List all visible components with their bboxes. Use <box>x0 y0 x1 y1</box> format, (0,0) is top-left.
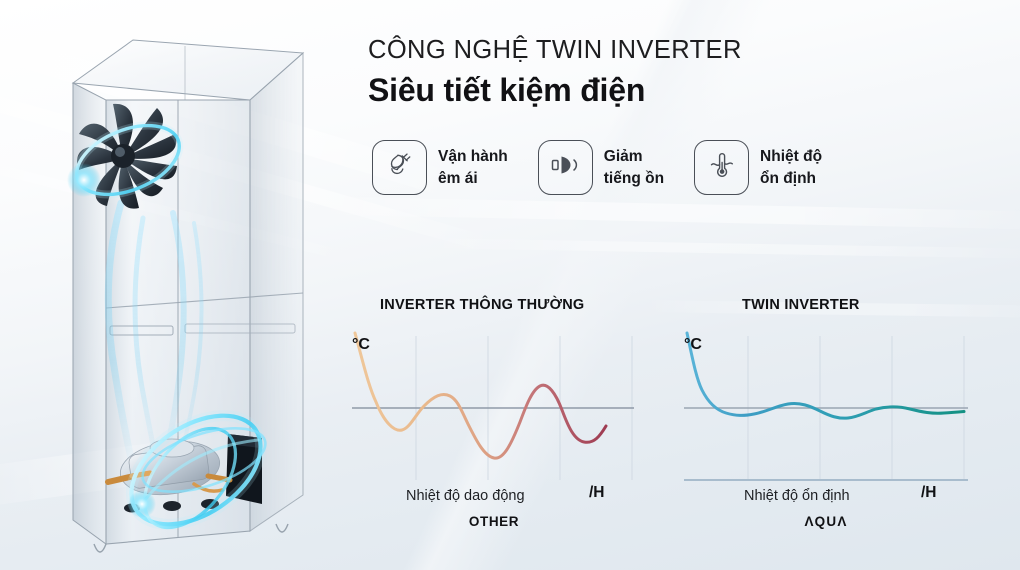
headline-block: CÔNG NGHỆ TWIN INVERTER Siêu tiết kiệm đ… <box>368 36 968 110</box>
chart-x-caption: Nhiệt độ dao động <box>406 488 525 504</box>
feature-icon-box <box>694 140 749 195</box>
chart-twin-inverter <box>676 330 976 505</box>
promo-banner: CÔNG NGHỆ TWIN INVERTER Siêu tiết kiệm đ… <box>0 0 1020 570</box>
feature-stable-temperature: Nhiệt độ ổn định <box>694 140 822 195</box>
feature-icon-box <box>372 140 427 195</box>
feature-quiet-operation: Vận hành êm ái <box>372 140 508 195</box>
chart-conventional-inverter <box>344 330 644 505</box>
refrigerator-illustration <box>18 8 348 570</box>
chart-series-line <box>355 333 606 458</box>
chart-x-caption: Nhiệt độ ổn định <box>744 488 850 504</box>
feature-label: Nhiệt độ ổn định <box>760 146 822 189</box>
feature-label: Giảm tiếng ồn <box>604 146 664 189</box>
chart-x-unit-label: /H <box>589 484 605 502</box>
chart-title-twin: TWIN INVERTER <box>742 297 860 313</box>
chart-brand-other: OTHER <box>344 514 644 529</box>
chart-y-unit-label: °C <box>352 336 370 354</box>
chart-x-unit-label: /H <box>921 484 937 502</box>
feature-list: Vận hành êm ái Giảm tiếng ồn <box>372 140 822 195</box>
feature-icon-box <box>538 140 593 195</box>
chart-brand-aqua: ΛQUΛ <box>676 514 976 529</box>
chart-title-conventional: INVERTER THÔNG THƯỜNG <box>380 297 584 313</box>
kicker-text: CÔNG NGHỆ TWIN INVERTER <box>368 36 968 65</box>
chart-y-unit-label: °C <box>684 336 702 354</box>
plug-leaf-icon <box>383 148 417 187</box>
feature-label: Vận hành êm ái <box>438 146 508 189</box>
fridge-foot-left <box>94 544 106 552</box>
fridge-foot-right <box>276 524 288 532</box>
chart-series-line <box>687 333 964 418</box>
feature-noise-reduction: Giảm tiếng ồn <box>538 140 664 195</box>
page-title: Siêu tiết kiệm điện <box>368 72 968 110</box>
speaker-sound-icon <box>548 150 582 185</box>
thermometer-stable-icon <box>705 148 739 187</box>
